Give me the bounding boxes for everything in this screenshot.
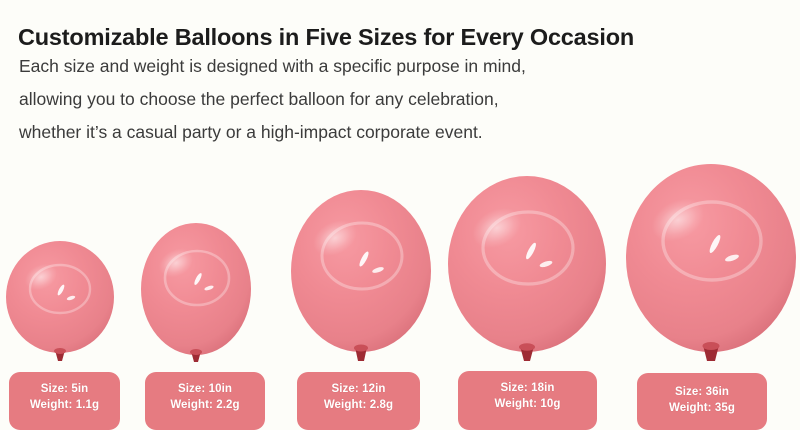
balloon-graphic-5: [625, 164, 797, 365]
balloon-graphic-4: [447, 176, 607, 365]
size-label-2: Size: 10in: [145, 381, 265, 397]
weight-label-3: Weight: 2.8g: [297, 397, 420, 413]
page-description: Each size and weight is designed with a …: [19, 50, 759, 149]
size-card-3[interactable]: Size: 12in Weight: 2.8g: [297, 372, 420, 430]
weight-label-4: Weight: 10g: [458, 396, 597, 412]
weight-label-5: Weight: 35g: [637, 400, 767, 416]
size-card-1[interactable]: Size: 5in Weight: 1.1g: [9, 372, 120, 430]
description-line-2: allowing you to choose the perfect ballo…: [19, 83, 759, 116]
weight-label-1: Weight: 1.1g: [9, 397, 120, 413]
balloon-1: [5, 241, 115, 365]
size-card-5[interactable]: Size: 36in Weight: 35g: [637, 373, 767, 430]
balloon-graphic-2: [140, 223, 252, 365]
balloon-graphic-1: [5, 241, 115, 365]
size-card-2[interactable]: Size: 10in Weight: 2.2g: [145, 372, 265, 430]
balloon-3: [290, 190, 432, 365]
balloon-2: [140, 223, 252, 365]
size-card-4[interactable]: Size: 18in Weight: 10g: [458, 371, 597, 430]
description-line-3: whether it’s a casual party or a high-im…: [19, 116, 759, 149]
size-label-4: Size: 18in: [458, 380, 597, 396]
weight-label-2: Weight: 2.2g: [145, 397, 265, 413]
description-line-1: Each size and weight is designed with a …: [19, 50, 759, 83]
balloon-4: [447, 176, 607, 365]
balloon-graphic-3: [290, 190, 432, 365]
balloon-5: [625, 164, 797, 365]
size-label-3: Size: 12in: [297, 381, 420, 397]
size-label-1: Size: 5in: [9, 381, 120, 397]
balloon-size-chart: Customizable Balloons in Five Sizes for …: [0, 0, 800, 430]
page-title: Customizable Balloons in Five Sizes for …: [18, 22, 778, 52]
size-label-5: Size: 36in: [637, 384, 767, 400]
